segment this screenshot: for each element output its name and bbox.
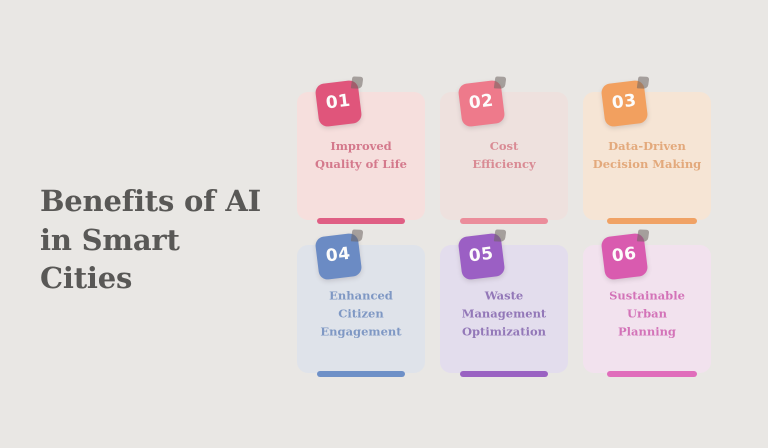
folded-corner-icon: [637, 229, 650, 241]
benefit-number-04: 04: [325, 246, 352, 266]
benefit-card-04[interactable]: 04 Enhanced Citizen Engagement: [297, 245, 425, 373]
folded-corner-icon: [351, 76, 364, 88]
benefit-card-02[interactable]: 02 Cost Efficiency: [440, 92, 568, 220]
benefit-card-05[interactable]: 05 Waste Management Optimization: [440, 245, 568, 373]
benefit-label-06: Sustainable Urban Planning: [589, 287, 705, 340]
benefit-badge-03: 03: [601, 80, 649, 128]
benefit-underline-03: [607, 218, 697, 224]
benefit-label-01: Improved Quality of Life: [303, 138, 419, 174]
benefit-badge-04: 04: [315, 233, 363, 281]
folded-corner-icon: [351, 229, 364, 241]
benefit-label-02: Cost Efficiency: [446, 138, 562, 174]
benefit-underline-01: [317, 218, 405, 224]
benefit-number-01: 01: [325, 93, 352, 113]
folded-corner-icon: [494, 76, 507, 88]
benefit-number-06: 06: [611, 246, 638, 266]
benefit-badge-05: 05: [458, 233, 506, 281]
benefit-label-05: Waste Management Optimization: [446, 287, 562, 340]
benefits-card-grid: 01 Improved Quality of Life 02 Cost Effi…: [297, 92, 712, 375]
benefit-badge-06: 06: [601, 233, 649, 281]
folded-corner-icon: [494, 229, 507, 241]
benefit-number-05: 05: [468, 246, 495, 266]
page-title: Benefits of AI in Smart Cities: [40, 182, 276, 298]
benefit-card-03[interactable]: 03 Data-Driven Decision Making: [583, 92, 711, 220]
benefit-badge-01: 01: [315, 80, 363, 128]
slide-canvas: Benefits of AI in Smart Cities 01 Improv…: [0, 0, 768, 448]
folded-corner-icon: [637, 76, 650, 88]
benefit-underline-02: [460, 218, 548, 224]
benefit-card-06[interactable]: 06 Sustainable Urban Planning: [583, 245, 711, 373]
benefit-number-03: 03: [611, 93, 638, 113]
benefit-underline-06: [607, 371, 697, 377]
benefit-card-01[interactable]: 01 Improved Quality of Life: [297, 92, 425, 220]
benefit-underline-04: [317, 371, 405, 377]
benefit-underline-05: [460, 371, 548, 377]
benefit-badge-02: 02: [458, 80, 506, 128]
benefit-label-04: Enhanced Citizen Engagement: [303, 287, 419, 340]
benefit-label-03: Data-Driven Decision Making: [589, 138, 705, 174]
benefit-number-02: 02: [468, 93, 495, 113]
title-block: Benefits of AI in Smart Cities: [40, 182, 276, 298]
